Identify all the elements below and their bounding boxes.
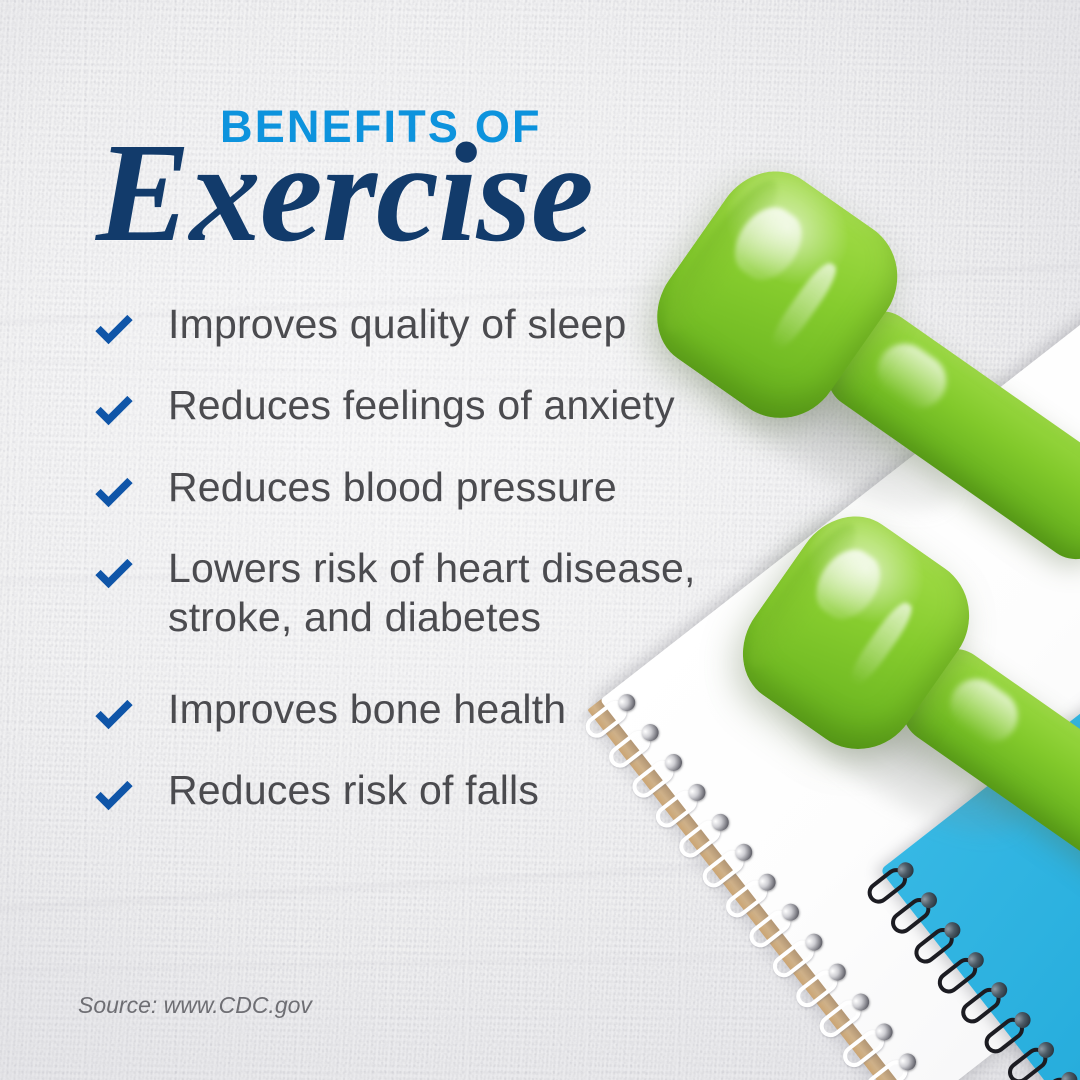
spiral-coil-icon — [862, 1050, 921, 1080]
check-icon — [94, 308, 134, 348]
spiral-coil-icon — [887, 889, 943, 940]
source-credit: Source: www.CDC.gov — [78, 992, 312, 1019]
benefits-list: Improves quality of sleep Reduces feelin… — [94, 300, 794, 848]
list-item-label: Reduces feelings of anxiety — [168, 381, 675, 429]
list-item-label: Reduces blood pressure — [168, 463, 617, 511]
infographic-poster: BENEFITS OF Exercise Improves quality of… — [0, 0, 1080, 1080]
headline-wordmark: Exercise — [96, 127, 593, 258]
list-item: Reduces feelings of anxiety — [94, 381, 794, 429]
check-icon — [94, 552, 134, 592]
headline-group: BENEFITS OF Exercise — [96, 104, 593, 258]
list-item: Lowers risk of heart disease, stroke, an… — [94, 544, 794, 641]
spiral-coil-icon — [839, 1020, 898, 1073]
dumbbell-lower-handle — [889, 636, 1080, 901]
list-item-label: Improves quality of sleep — [168, 300, 627, 348]
check-icon — [94, 774, 134, 814]
spiral-coil-icon — [745, 900, 804, 953]
check-icon — [94, 389, 134, 429]
check-icon — [94, 471, 134, 511]
list-item: Improves bone health — [94, 685, 794, 733]
list-item: Reduces risk of falls — [94, 766, 794, 814]
list-item-label: Reduces risk of falls — [168, 766, 539, 814]
list-item-label: Improves bone health — [168, 685, 566, 733]
spiral-coil-icon — [768, 930, 827, 983]
spiral-coil-icon — [722, 870, 781, 923]
spiral-coil-icon — [957, 978, 1013, 1029]
spiral-coil-icon — [980, 1008, 1036, 1059]
spiral-coil-icon — [1004, 1038, 1060, 1080]
dumbbell-upper-handle — [814, 298, 1080, 572]
list-item: Improves quality of sleep — [94, 300, 794, 348]
check-icon — [94, 693, 134, 733]
spiral-coil-icon — [815, 990, 874, 1043]
notebook-blue-cover — [880, 587, 1080, 1080]
spiral-coil-icon — [1027, 1068, 1080, 1080]
notebook-blue — [880, 587, 1080, 1080]
list-item-label: Lowers risk of heart disease, stroke, an… — [168, 544, 696, 641]
list-item: Reduces blood pressure — [94, 463, 794, 511]
spiral-coil-icon — [698, 840, 757, 893]
spiral-coil-icon — [910, 919, 966, 970]
spiral-coil-icon — [792, 960, 851, 1013]
spiral-coil-icon — [863, 859, 919, 910]
spiral-coil-icon — [933, 949, 989, 1000]
